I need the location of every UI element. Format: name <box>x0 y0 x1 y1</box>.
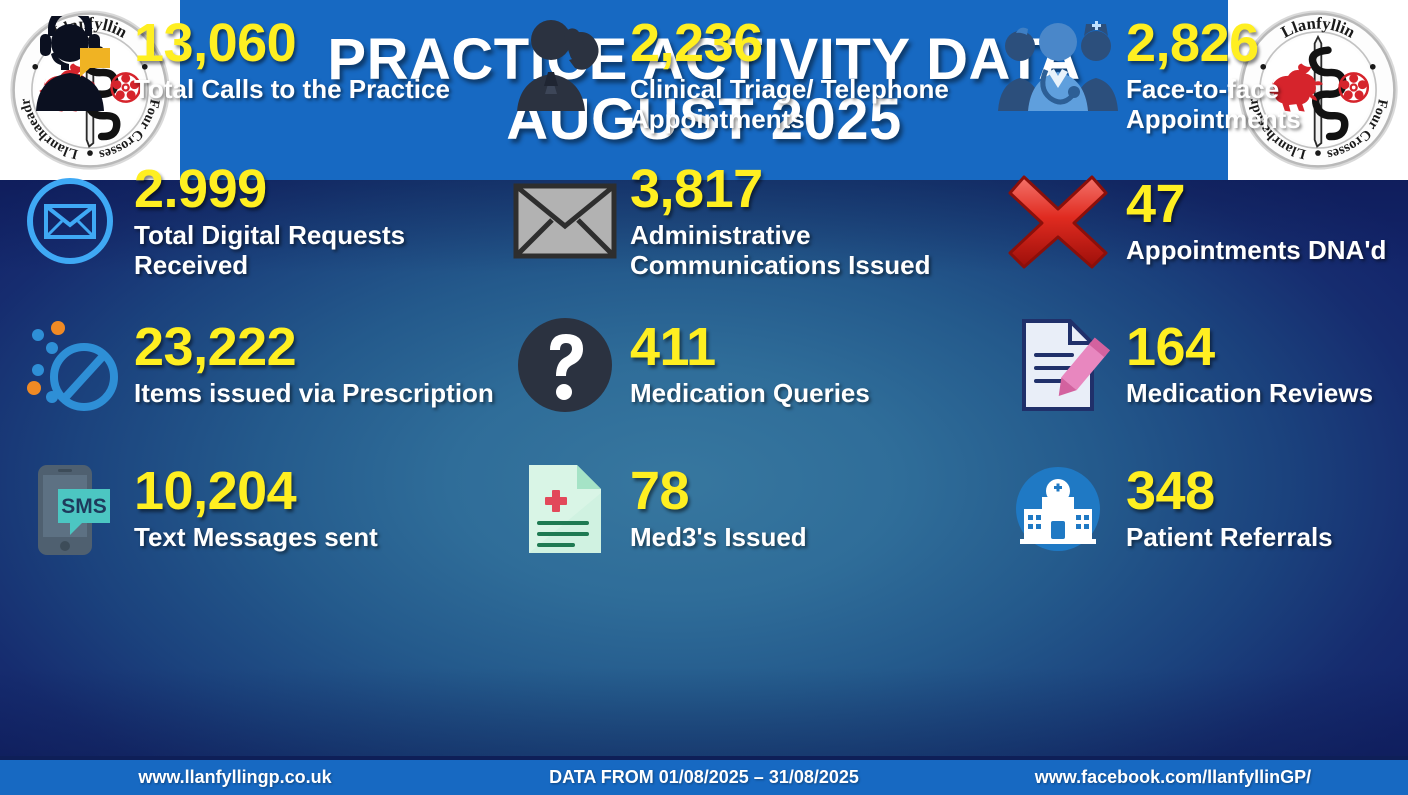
person-on-phone-icon <box>506 16 624 114</box>
stat-label: Med3's Issued <box>630 523 807 553</box>
stat-label: Medication Reviews <box>1126 379 1373 409</box>
stat-prescription-items: 23,222 Items issued via Prescription <box>0 292 500 437</box>
medical-certificate-icon <box>506 459 624 559</box>
stat-label: Face-to-face Appointments <box>1126 75 1408 134</box>
stat-patient-referrals: 348 Patient Referrals <box>990 437 1408 580</box>
stat-digital-requests: 2.999 Total Digital Requests Received <box>0 150 500 292</box>
stat-medication-queries: 411 Medication Queries <box>500 292 990 437</box>
stat-value: 2,826 <box>1126 16 1408 70</box>
stat-label: Text Messages sent <box>134 523 378 553</box>
question-mark-circle-icon <box>506 316 624 414</box>
sms-phone-icon: SMS <box>14 459 126 559</box>
stat-label: Total Calls to the Practice <box>134 75 450 105</box>
stat-value: 348 <box>1126 464 1333 518</box>
grey-envelope-icon <box>506 180 624 262</box>
stat-med3-issued: 78 Med3's Issued <box>500 437 990 580</box>
stat-label: Appointments DNA'd <box>1126 236 1386 266</box>
call-centre-headset-icon <box>14 16 126 114</box>
stat-value: 23,222 <box>134 320 494 374</box>
stat-label: Administrative Communications Issued <box>630 221 990 280</box>
stats-grid: 13,060 Total Calls to the Practice 2,236… <box>0 0 1408 795</box>
svg-text:SMS: SMS <box>61 495 107 518</box>
stat-label: Total Digital Requests Received <box>134 221 500 280</box>
stat-value: 411 <box>630 320 870 374</box>
pills-capsule-icon <box>14 315 126 415</box>
stat-value: 2,236 <box>630 16 990 70</box>
stat-label: Patient Referrals <box>1126 523 1333 553</box>
stat-admin-communications: 3,817 Administrative Communications Issu… <box>500 150 990 292</box>
stat-value: 2.999 <box>134 162 500 216</box>
stat-label: Medication Queries <box>630 379 870 409</box>
stat-face-to-face: 2,826 Face-to-face Appointments <box>990 0 1408 150</box>
stat-clinical-triage: 2,236 Clinical Triage/ Telephone Appoint… <box>500 0 990 150</box>
stat-value: 10,204 <box>134 464 378 518</box>
medical-team-icon <box>994 16 1122 114</box>
red-cross-x-icon <box>994 169 1122 273</box>
envelope-circle-icon <box>14 171 126 271</box>
hospital-building-icon <box>994 457 1122 561</box>
stat-value: 164 <box>1126 320 1373 374</box>
stat-medication-reviews: 164 Medication Reviews <box>990 292 1408 437</box>
infographic-poster: Llanfyllin Four Crosses Llanrhaeadr <box>0 0 1408 795</box>
stat-text-messages: SMS 10,204 Text Messages sent <box>0 437 500 580</box>
stat-label: Items issued via Prescription <box>134 379 494 409</box>
document-pencil-icon <box>994 313 1122 417</box>
stat-label: Clinical Triage/ Telephone Appointments <box>630 75 990 134</box>
stat-value: 3,817 <box>630 162 990 216</box>
stat-value: 47 <box>1126 177 1386 231</box>
stat-value: 78 <box>630 464 807 518</box>
stat-appointments-dna: 47 Appointments DNA'd <box>990 150 1408 292</box>
stat-total-calls: 13,060 Total Calls to the Practice <box>0 0 500 150</box>
stat-value: 13,060 <box>134 16 450 70</box>
